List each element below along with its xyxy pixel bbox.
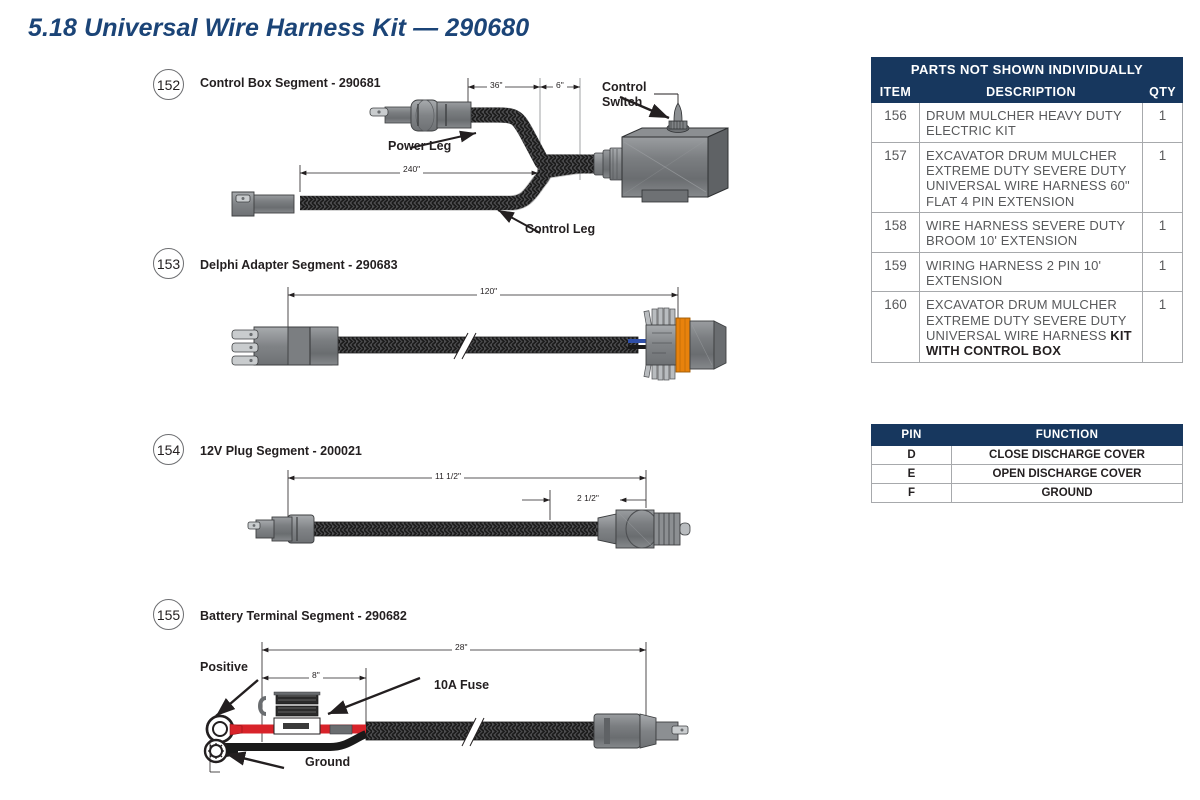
pin-id: F xyxy=(872,484,952,503)
table-row: 156 DRUM MULCHER HEAVY DUTY ELECTRIC KIT… xyxy=(872,103,1183,143)
part-description-text: WIRE HARNESS SEVERE DUTY BROOM 10' EXTEN… xyxy=(926,218,1125,248)
segment-title-153: Delphi Adapter Segment - 290683 xyxy=(200,258,398,272)
annotation-control-leg: Control Leg xyxy=(525,222,595,236)
callout-number-155: 155 xyxy=(153,599,184,630)
part-description-text: EXCAVATOR DRUM MULCHER EXTREME DUTY SEVE… xyxy=(926,297,1126,343)
callout-label: 155 xyxy=(157,607,180,623)
part-qty: 1 xyxy=(1143,103,1183,143)
annotation-control-switch-line1: Control xyxy=(602,80,646,94)
table-row: 160 EXCAVATOR DRUM MULCHER EXTREME DUTY … xyxy=(872,292,1183,362)
part-qty: 1 xyxy=(1143,212,1183,252)
diagram-12v-plug-segment xyxy=(180,460,760,570)
part-item-number: 157 xyxy=(872,142,920,212)
table-row: D CLOSE DISCHARGE COVER xyxy=(872,446,1183,465)
table-row: 159 WIRING HARNESS 2 PIN 10' EXTENSION 1 xyxy=(872,252,1183,292)
part-qty: 1 xyxy=(1143,142,1183,212)
callout-label: 153 xyxy=(157,256,180,272)
svg-152 xyxy=(180,70,760,250)
part-description: EXCAVATOR DRUM MULCHER EXTREME DUTY SEVE… xyxy=(920,292,1143,362)
pin-function: OPEN DISCHARGE COVER xyxy=(952,465,1183,484)
callout-label: 154 xyxy=(157,442,180,458)
parts-table-col-qty: QTY xyxy=(1143,82,1183,103)
dimension-154-2half-in: 2 1/2" xyxy=(574,493,602,503)
part-qty: 1 xyxy=(1143,252,1183,292)
dimension-152-6in: 6" xyxy=(553,80,567,90)
pin-table-col-function: FUNCTION xyxy=(952,425,1183,446)
pin-function: GROUND xyxy=(952,484,1183,503)
table-row: E OPEN DISCHARGE COVER xyxy=(872,465,1183,484)
part-item-number: 156 xyxy=(872,103,920,143)
annotation-positive: Positive xyxy=(200,660,248,674)
callout-label: 152 xyxy=(157,77,180,93)
annotation-control-switch-line2: Switch xyxy=(602,95,642,109)
page-title: 5.18 Universal Wire Harness Kit — 290680 xyxy=(28,14,529,43)
parts-table-col-description: DESCRIPTION xyxy=(920,82,1143,103)
dimension-155-28in: 28" xyxy=(452,642,470,652)
part-item-number: 160 xyxy=(872,292,920,362)
parts-table-main-header: PARTS NOT SHOWN INDIVIDUALLY xyxy=(872,58,1183,82)
part-description: EXCAVATOR DRUM MULCHER EXTREME DUTY SEVE… xyxy=(920,142,1143,212)
part-description-text: WIRING HARNESS 2 PIN 10' EXTENSION xyxy=(926,258,1101,288)
dimension-155-8in: 8" xyxy=(309,670,323,680)
part-description: WIRE HARNESS SEVERE DUTY BROOM 10' EXTEN… xyxy=(920,212,1143,252)
pin-id: E xyxy=(872,465,952,484)
pin-table-col-pin: PIN xyxy=(872,425,952,446)
svg-154 xyxy=(180,460,760,570)
parts-not-shown-table: PARTS NOT SHOWN INDIVIDUALLY ITEM DESCRI… xyxy=(871,57,1183,363)
table-row: F GROUND xyxy=(872,484,1183,503)
part-description: DRUM MULCHER HEAVY DUTY ELECTRIC KIT xyxy=(920,103,1143,143)
dimension-152-240in: 240" xyxy=(400,164,423,174)
pin-function: CLOSE DISCHARGE COVER xyxy=(952,446,1183,465)
segment-title-155: Battery Terminal Segment - 290682 xyxy=(200,609,407,623)
svg-155 xyxy=(180,630,760,790)
part-description-text: DRUM MULCHER HEAVY DUTY ELECTRIC KIT xyxy=(926,108,1122,138)
segment-title-154: 12V Plug Segment - 200021 xyxy=(200,444,362,458)
table-row: 158 WIRE HARNESS SEVERE DUTY BROOM 10' E… xyxy=(872,212,1183,252)
pin-function-table: PIN FUNCTION D CLOSE DISCHARGE COVER E O… xyxy=(871,424,1183,503)
diagram-control-box-segment xyxy=(180,70,760,250)
part-description: WIRING HARNESS 2 PIN 10' EXTENSION xyxy=(920,252,1143,292)
diagram-delphi-adapter-segment xyxy=(180,275,760,400)
part-item-number: 159 xyxy=(872,252,920,292)
dimension-154-11half-in: 11 1/2" xyxy=(432,471,464,481)
parts-table-col-item: ITEM xyxy=(872,82,920,103)
part-description-text: EXCAVATOR DRUM MULCHER EXTREME DUTY SEVE… xyxy=(926,148,1130,209)
dimension-152-36in: 36" xyxy=(487,80,505,90)
annotation-10a-fuse: 10A Fuse xyxy=(434,678,489,692)
table-row: 157 EXCAVATOR DRUM MULCHER EXTREME DUTY … xyxy=(872,142,1183,212)
annotation-ground: Ground xyxy=(305,755,350,769)
pin-id: D xyxy=(872,446,952,465)
part-item-number: 158 xyxy=(872,212,920,252)
diagram-battery-terminal-segment xyxy=(180,630,760,790)
dimension-153-120in: 120" xyxy=(477,286,500,296)
annotation-power-leg: Power Leg xyxy=(388,139,451,153)
part-qty: 1 xyxy=(1143,292,1183,362)
svg-153 xyxy=(180,275,760,400)
